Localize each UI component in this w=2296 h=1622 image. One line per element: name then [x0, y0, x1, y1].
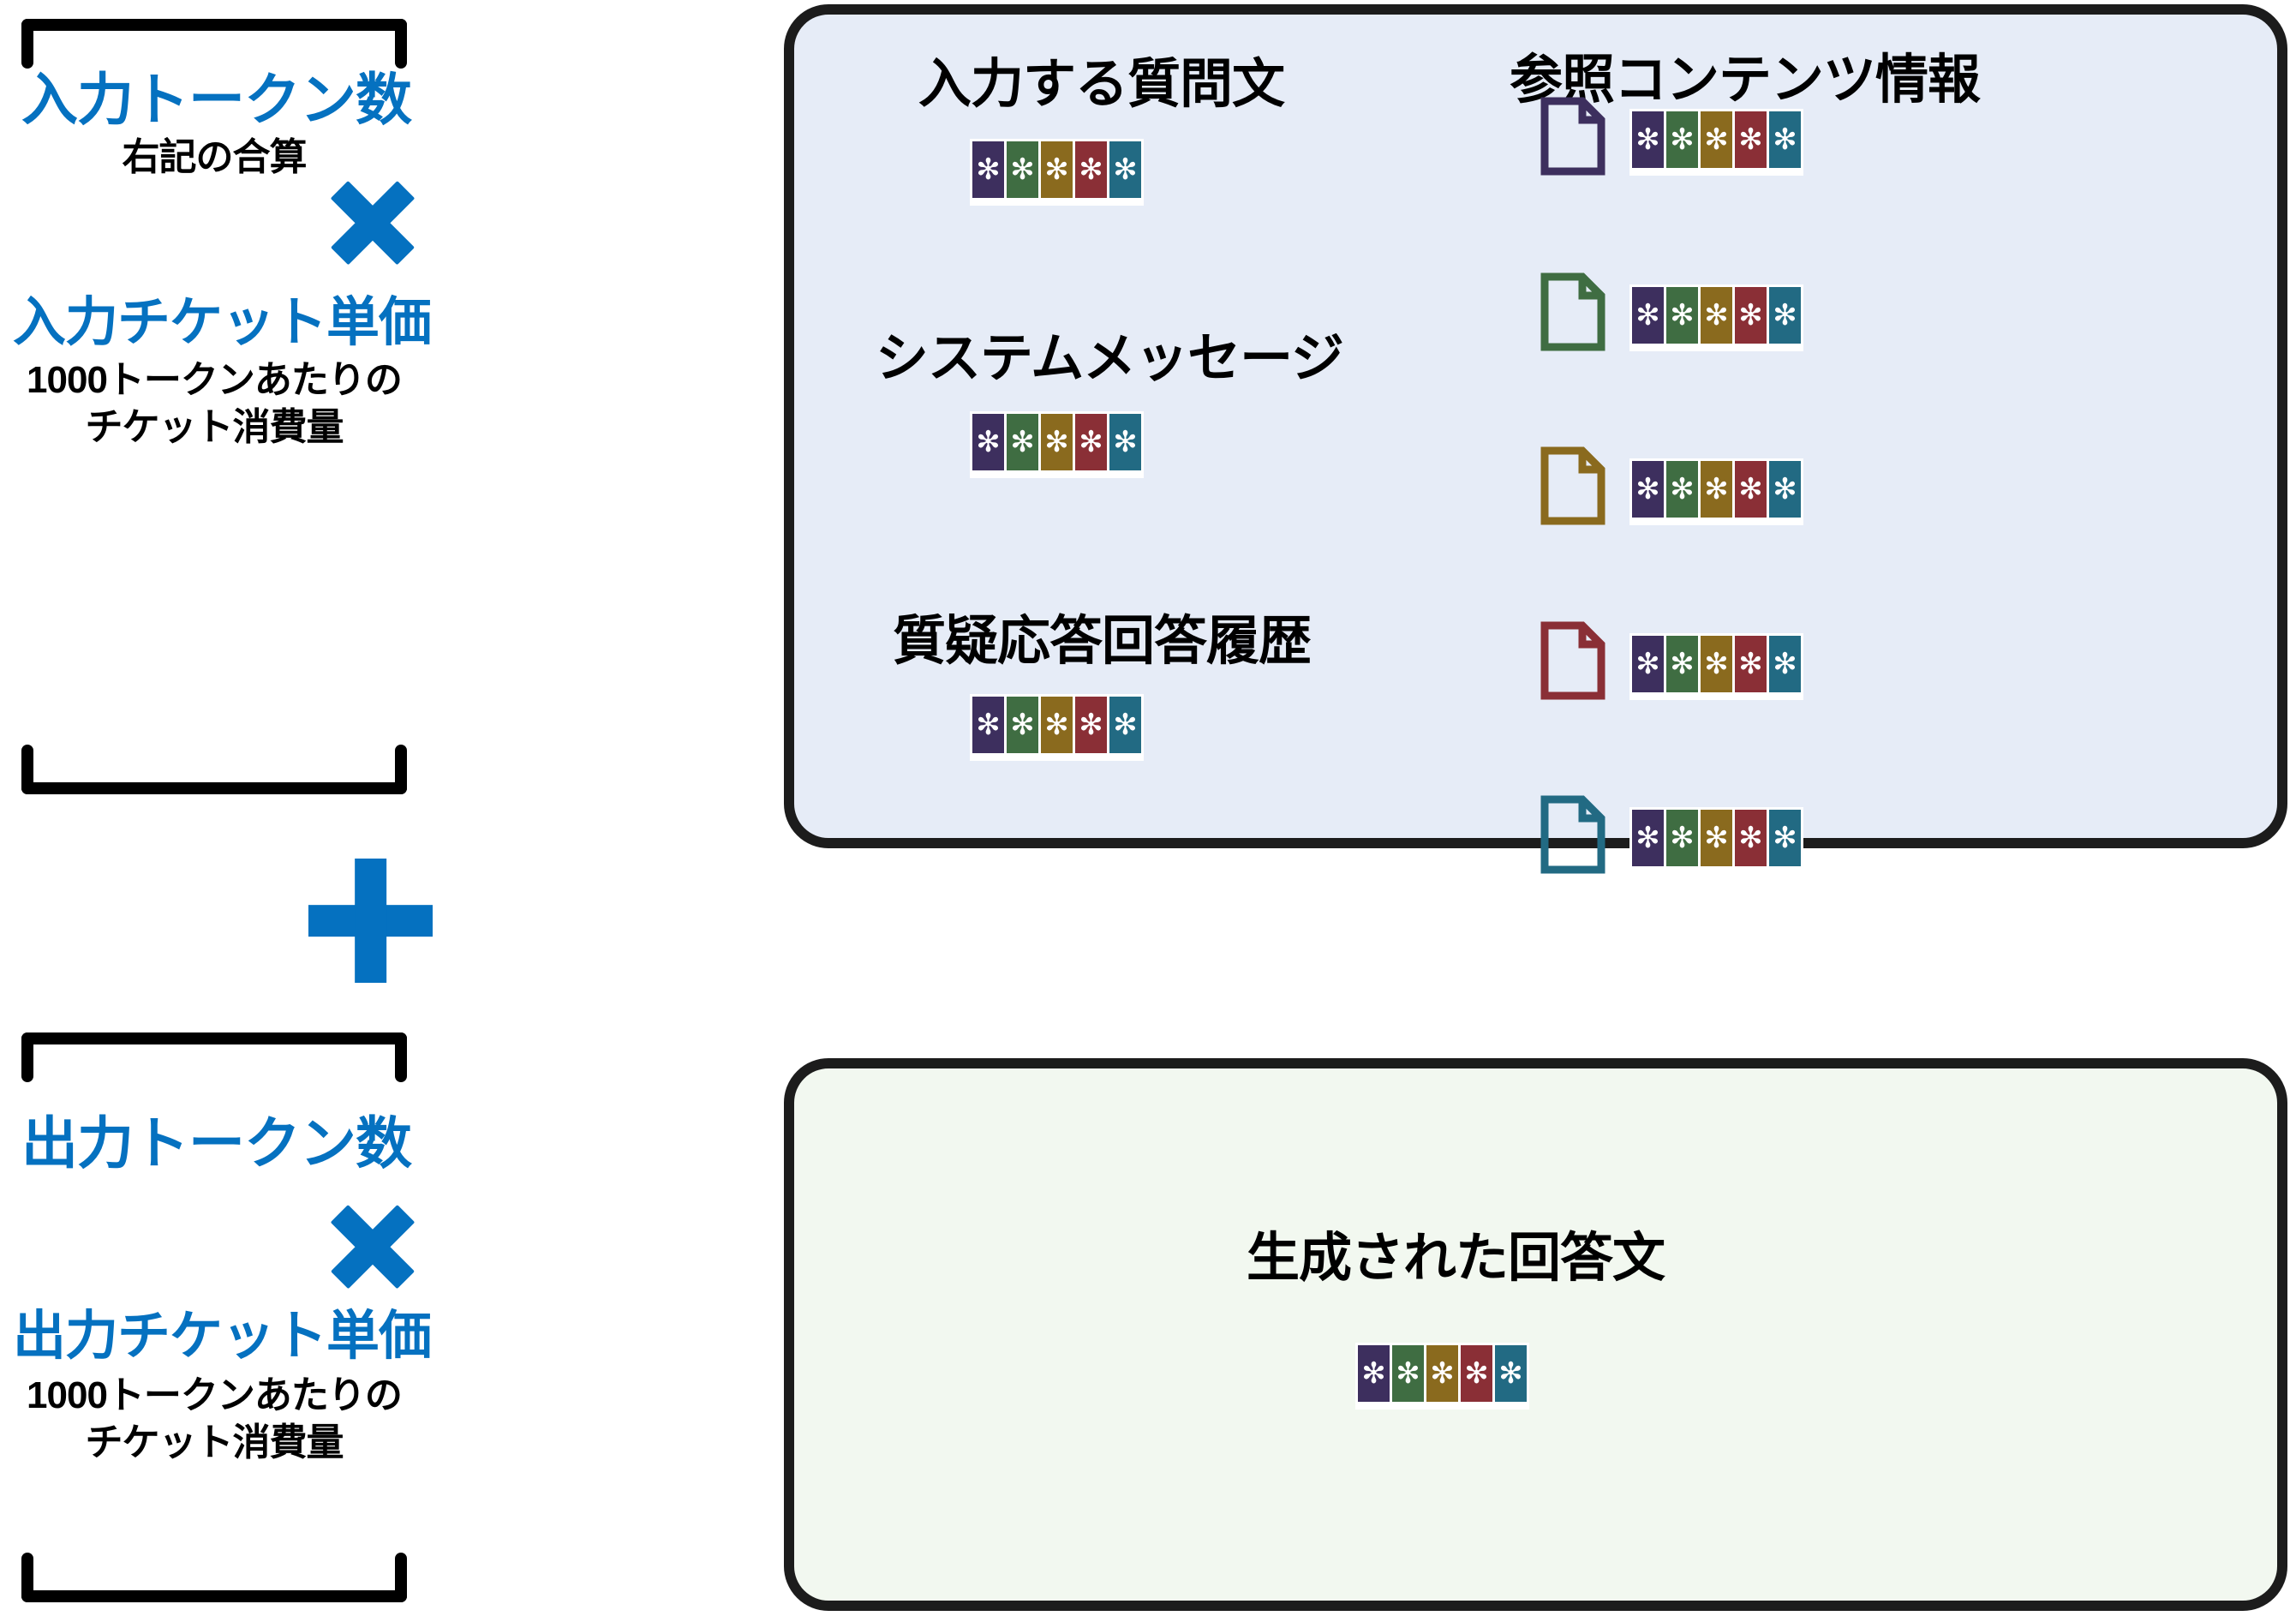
document-icon: [1540, 620, 1606, 701]
token-block: ✻: [1735, 461, 1767, 518]
output-ticket-rate-subtitle-line2: チケット消費量: [13, 1422, 416, 1463]
input-ticket-rate-title: 入力チケット単価: [13, 296, 416, 350]
token-block: ✻: [1735, 287, 1767, 344]
output-ticket-rate-subtitle-line1: 1000トークンあたりの: [13, 1375, 416, 1416]
output-token-count-title: 出力トークン数: [21, 1114, 407, 1173]
token-block: ✻: [972, 141, 1004, 198]
token-block: ✻: [1632, 810, 1664, 866]
token-strip-generated-answer: ✻✻✻✻✻: [1355, 1343, 1529, 1410]
token-block: ✻: [972, 697, 1004, 753]
input-ticket-rate-subtitle-line2: チケット消費量: [13, 407, 416, 448]
token-block: ✻: [1735, 111, 1767, 168]
token-block: ✻: [1109, 697, 1141, 753]
token-block: ✻: [1769, 287, 1801, 344]
bracket-bottom-left-stub: [21, 745, 33, 794]
bracket-bottom-right-stub: [395, 1553, 407, 1602]
document-icon: [1540, 96, 1606, 177]
token-block: ✻: [1632, 636, 1664, 692]
token-block: ✻: [1495, 1345, 1527, 1402]
qa-history-header: 質疑応答回答履歴: [893, 597, 1311, 674]
token-block: ✻: [1109, 141, 1141, 198]
token-block: ✻: [1461, 1345, 1492, 1402]
bracket-top-right-stub: [395, 1032, 407, 1082]
bracket-top-right-stub: [395, 19, 407, 69]
token-block: ✻: [1701, 111, 1732, 168]
input-token-count-subtitle: 右記の合算: [21, 137, 407, 178]
token-strip-system-message: ✻✻✻✻✻: [970, 411, 1144, 478]
token-block: ✻: [1632, 287, 1664, 344]
token-block: ✻: [1769, 461, 1801, 518]
token-block: ✻: [1632, 111, 1664, 168]
token-strip-reference-document: ✻✻✻✻✻: [1629, 284, 1803, 351]
token-block: ✻: [1666, 636, 1698, 692]
token-strip-reference-document: ✻✻✻✻✻: [1629, 807, 1803, 874]
token-block: ✻: [1701, 810, 1732, 866]
token-block: ✻: [1701, 636, 1732, 692]
token-block: ✻: [1701, 287, 1732, 344]
token-block: ✻: [1769, 636, 1801, 692]
bracket-top-edge: [21, 1032, 407, 1044]
input-panel: 入力する質問文 ✻✻✻✻✻ システムメッセージ ✻✻✻✻✻ 質疑応答回答履歴 ✻…: [784, 4, 2287, 848]
document-icon: [1540, 794, 1606, 875]
plus-icon-join: [308, 859, 433, 983]
input-ticket-rate-subtitle-line1: 1000トークンあたりの: [13, 360, 416, 401]
token-block: ✻: [1426, 1345, 1458, 1402]
multiply-icon-output: [326, 1200, 420, 1294]
token-strip-reference-document: ✻✻✻✻✻: [1629, 109, 1803, 176]
token-block: ✻: [972, 414, 1004, 470]
token-block: ✻: [1666, 810, 1698, 866]
bracket-bottom-right-stub: [395, 745, 407, 794]
token-block: ✻: [1041, 141, 1073, 198]
generated-answer-header: 生成された回答文: [1247, 1214, 1665, 1291]
token-block: ✻: [1109, 414, 1141, 470]
token-block: ✻: [1075, 697, 1107, 753]
token-block: ✻: [1632, 461, 1664, 518]
system-message-header: システムメッセージ: [876, 314, 1343, 392]
bracket-bottom-edge: [21, 782, 407, 794]
token-strip-question: ✻✻✻✻✻: [970, 139, 1144, 206]
token-block: ✻: [1666, 461, 1698, 518]
bracket-bottom-edge: [21, 1590, 407, 1602]
token-block: ✻: [1007, 697, 1038, 753]
output-ticket-rate-title: 出力チケット単価: [13, 1309, 416, 1364]
input-question-header: 入力する質問文: [918, 40, 1284, 117]
bracket-bottom-left-stub: [21, 1553, 33, 1602]
token-block: ✻: [1769, 111, 1801, 168]
token-strip-reference-document: ✻✻✻✻✻: [1629, 458, 1803, 525]
token-block: ✻: [1735, 636, 1767, 692]
bracket-top-edge: [21, 19, 407, 31]
token-block: ✻: [1392, 1345, 1424, 1402]
token-block: ✻: [1735, 810, 1767, 866]
document-icon: [1540, 272, 1606, 352]
token-block: ✻: [1041, 414, 1073, 470]
token-block: ✻: [1075, 414, 1107, 470]
token-block: ✻: [1075, 141, 1107, 198]
token-strip-qa-history: ✻✻✻✻✻: [970, 694, 1144, 761]
token-block: ✻: [1701, 461, 1732, 518]
document-icon: [1540, 446, 1606, 526]
token-block: ✻: [1666, 287, 1698, 344]
token-block: ✻: [1666, 111, 1698, 168]
token-strip-reference-document: ✻✻✻✻✻: [1629, 633, 1803, 700]
bracket-top-left-stub: [21, 1032, 33, 1082]
token-block: ✻: [1358, 1345, 1390, 1402]
multiply-icon-input: [326, 176, 420, 270]
token-block: ✻: [1007, 414, 1038, 470]
token-block: ✻: [1769, 810, 1801, 866]
token-block: ✻: [1041, 697, 1073, 753]
input-token-count-title: 入力トークン数: [21, 70, 407, 129]
token-block: ✻: [1007, 141, 1038, 198]
output-panel: 生成された回答文 ✻✻✻✻✻: [784, 1058, 2287, 1611]
bracket-top-left-stub: [21, 19, 33, 69]
